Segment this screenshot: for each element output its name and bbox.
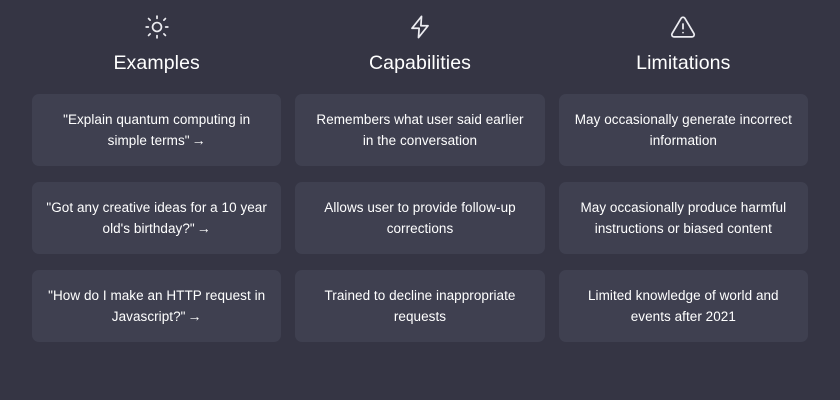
card-list-capabilities: Remembers what user said earlier in the … [295, 94, 544, 342]
arrow-right-icon: → [190, 132, 206, 148]
limitation-card: Limited knowledge of world and events af… [559, 270, 808, 342]
card-text: May occasionally generate incorrect info… [575, 112, 792, 148]
capability-card: Allows user to provide follow-up correct… [295, 182, 544, 254]
column-title-capabilities: Capabilities [369, 51, 471, 75]
card-text: May occasionally produce harmful instruc… [580, 200, 786, 236]
welcome-screen: Examples "Explain quantum computing in s… [0, 0, 840, 400]
example-card[interactable]: "How do I make an HTTP request in Javasc… [32, 270, 281, 342]
limitation-card: May occasionally produce harmful instruc… [559, 182, 808, 254]
example-card[interactable]: "Got any creative ideas for a 10 year ol… [32, 182, 281, 254]
column-header-limitations: Limitations [559, 14, 808, 75]
card-text: Allows user to provide follow-up correct… [324, 200, 515, 236]
card-text: "Explain quantum computing in simple ter… [63, 112, 250, 148]
card-text: Trained to decline inappropriate request… [325, 288, 516, 324]
card-text: "Got any creative ideas for a 10 year ol… [46, 200, 267, 236]
column-title-limitations: Limitations [636, 51, 730, 75]
column-header-examples: Examples [32, 14, 281, 75]
card-text: Remembers what user said earlier in the … [316, 112, 523, 148]
arrow-right-icon: → [185, 308, 201, 324]
column-limitations: Limitations May occasionally generate in… [559, 14, 808, 342]
card-list-limitations: May occasionally generate incorrect info… [559, 94, 808, 342]
column-capabilities: Capabilities Remembers what user said ea… [295, 14, 544, 342]
sun-icon [144, 14, 170, 40]
column-header-capabilities: Capabilities [295, 14, 544, 75]
columns-grid: Examples "Explain quantum computing in s… [32, 14, 808, 400]
capability-card: Trained to decline inappropriate request… [295, 270, 544, 342]
card-text: "How do I make an HTTP request in Javasc… [48, 288, 265, 324]
lightning-bolt-icon [407, 14, 433, 40]
card-text: Limited knowledge of world and events af… [588, 288, 779, 324]
limitation-card: May occasionally generate incorrect info… [559, 94, 808, 166]
warning-triangle-icon [670, 14, 696, 40]
column-examples: Examples "Explain quantum computing in s… [32, 14, 281, 342]
example-card[interactable]: "Explain quantum computing in simple ter… [32, 94, 281, 166]
card-list-examples: "Explain quantum computing in simple ter… [32, 94, 281, 342]
column-title-examples: Examples [113, 51, 199, 75]
capability-card: Remembers what user said earlier in the … [295, 94, 544, 166]
arrow-right-icon: → [195, 220, 211, 236]
